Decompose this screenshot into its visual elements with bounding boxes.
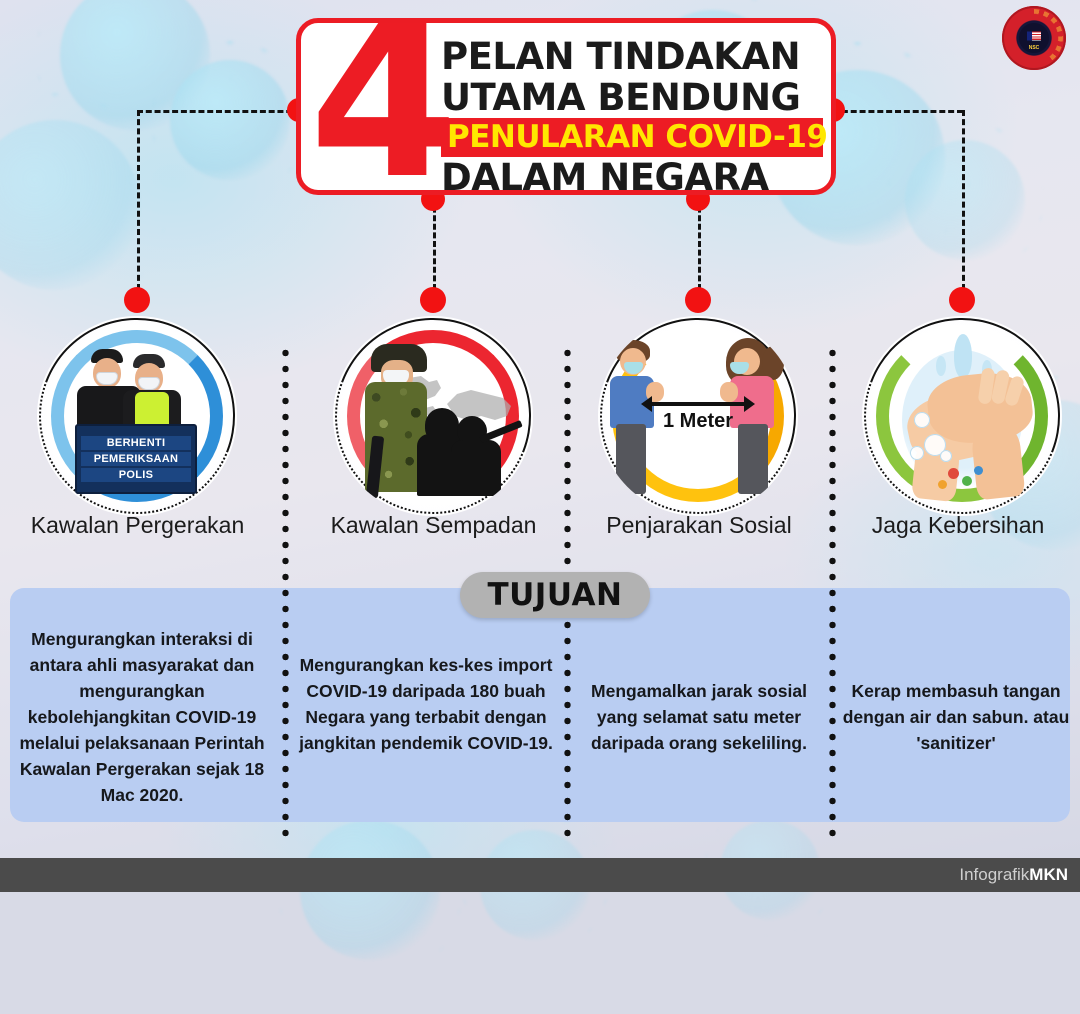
purpose-text-2: Mengurangkan kes-kes import COVID-19 dar… xyxy=(292,652,560,756)
headline-line-2: UTAMA BENDUNG xyxy=(441,77,823,118)
footer-bar: InfografikMKN xyxy=(0,858,1080,892)
person-ponytail xyxy=(762,346,784,380)
pillar-icon-penjarakan-sosial: 1 Meter xyxy=(598,316,798,516)
headline-number: 4 xyxy=(309,18,453,195)
connector-line-left-horizontal xyxy=(137,110,301,113)
person-legs xyxy=(738,424,768,494)
pillar-label-2: Kawalan Sempadan xyxy=(296,512,571,539)
connector-terminal-dot-1 xyxy=(124,287,150,313)
germ-icon xyxy=(974,466,983,475)
purpose-text-1: Mengurangkan interaksi di antara ahli ma… xyxy=(8,626,276,808)
sign-line-3: POLIS xyxy=(81,468,191,482)
handwashing-illustration xyxy=(862,316,1062,516)
connector-line-left-vertical xyxy=(137,110,140,290)
pillar-icons-row: BERHENTI PEMERIKSAAN POLIS xyxy=(0,316,1080,516)
soap-bubble xyxy=(940,450,952,462)
logo-center-text: NSC xyxy=(1019,45,1049,51)
tujuan-heading-text: TUJUAN xyxy=(487,577,622,613)
pillar-label-3: Penjarakan Sosial xyxy=(563,512,835,539)
headline-line-4: DALAM NEGARA xyxy=(441,157,823,195)
person-legs xyxy=(616,424,646,494)
pillar-label-1: Kawalan Pergerakan xyxy=(0,512,275,539)
forearm-upper xyxy=(970,426,1025,501)
police-checkpoint-illustration: BERHENTI PEMERIKSAAN POLIS xyxy=(37,316,237,516)
water-drop-icon xyxy=(936,356,946,376)
connector-line-mid2-vertical xyxy=(698,198,701,290)
purpose-text-4: Kerap membasuh tangan dengan air dan sab… xyxy=(838,678,1074,756)
purpose-text-3: Mengamalkan jarak sosial yang selamat sa… xyxy=(572,678,826,756)
connector-terminal-dot-2 xyxy=(420,287,446,313)
connector-terminal-dot-4 xyxy=(949,287,975,313)
sign-line-2: PEMERIKSAAN xyxy=(81,452,191,466)
headline-line-3-highlight: PENULARAN COVID-19 xyxy=(441,118,823,157)
border-control-illustration xyxy=(333,316,533,516)
checkpoint-sign: BERHENTI PEMERIKSAAN POLIS xyxy=(75,424,197,494)
tujuan-heading-pill: TUJUAN xyxy=(460,572,650,618)
germ-icon xyxy=(962,476,972,486)
pillar-labels-row: Kawalan Pergerakan Kawalan Sempadan Penj… xyxy=(0,512,1080,552)
virus-particle-icon xyxy=(0,120,140,290)
pillar-label-4: Jaga Kebersihan xyxy=(833,512,1080,539)
logo-crest: NSC xyxy=(1019,23,1049,53)
virus-particle-icon xyxy=(905,140,1025,260)
connector-terminal-dot-3 xyxy=(685,287,711,313)
virus-particle-icon xyxy=(170,60,290,180)
pillar-icon-jaga-kebersihan xyxy=(862,316,1062,516)
soap-bubble xyxy=(914,412,930,428)
social-distancing-illustration: 1 Meter xyxy=(598,316,798,516)
footer-credit-bold: MKN xyxy=(1029,865,1068,884)
distance-arrow: 1 Meter xyxy=(642,402,754,433)
germ-icon xyxy=(948,468,959,479)
footer-credit-prefix: Infografik xyxy=(959,865,1029,884)
soldier-silhouette-body xyxy=(451,440,501,496)
soap-bubble xyxy=(910,446,924,460)
malaysia-flag-icon xyxy=(1027,31,1041,40)
title-banner: 4 PELAN TINDAKAN UTAMA BENDUNG PENULARAN… xyxy=(296,18,836,195)
sign-line-1: BERHENTI xyxy=(81,436,191,450)
purpose-text-columns: Mengurangkan interaksi di antara ahli ma… xyxy=(0,588,1080,822)
headline-text-block: PELAN TINDAKAN UTAMA BENDUNG PENULARAN C… xyxy=(441,36,823,195)
pillar-icon-kawalan-sempadan xyxy=(333,316,533,516)
footer-credit: InfografikMKN xyxy=(959,865,1080,885)
connector-line-right-vertical xyxy=(962,110,965,290)
distance-label: 1 Meter xyxy=(642,410,754,433)
connector-line-right-horizontal xyxy=(833,110,963,113)
water-stream-icon xyxy=(954,334,972,378)
pillar-icon-kawalan-pergerakan: BERHENTI PEMERIKSAAN POLIS xyxy=(37,316,237,516)
headline-line-1: PELAN TINDAKAN xyxy=(441,36,823,77)
germ-icon xyxy=(938,480,947,489)
person-hand xyxy=(720,382,738,402)
arrow-shaft-icon xyxy=(651,402,745,406)
connector-line-mid1-vertical xyxy=(433,198,436,290)
mkn-logo-icon: NSC xyxy=(1002,6,1066,70)
